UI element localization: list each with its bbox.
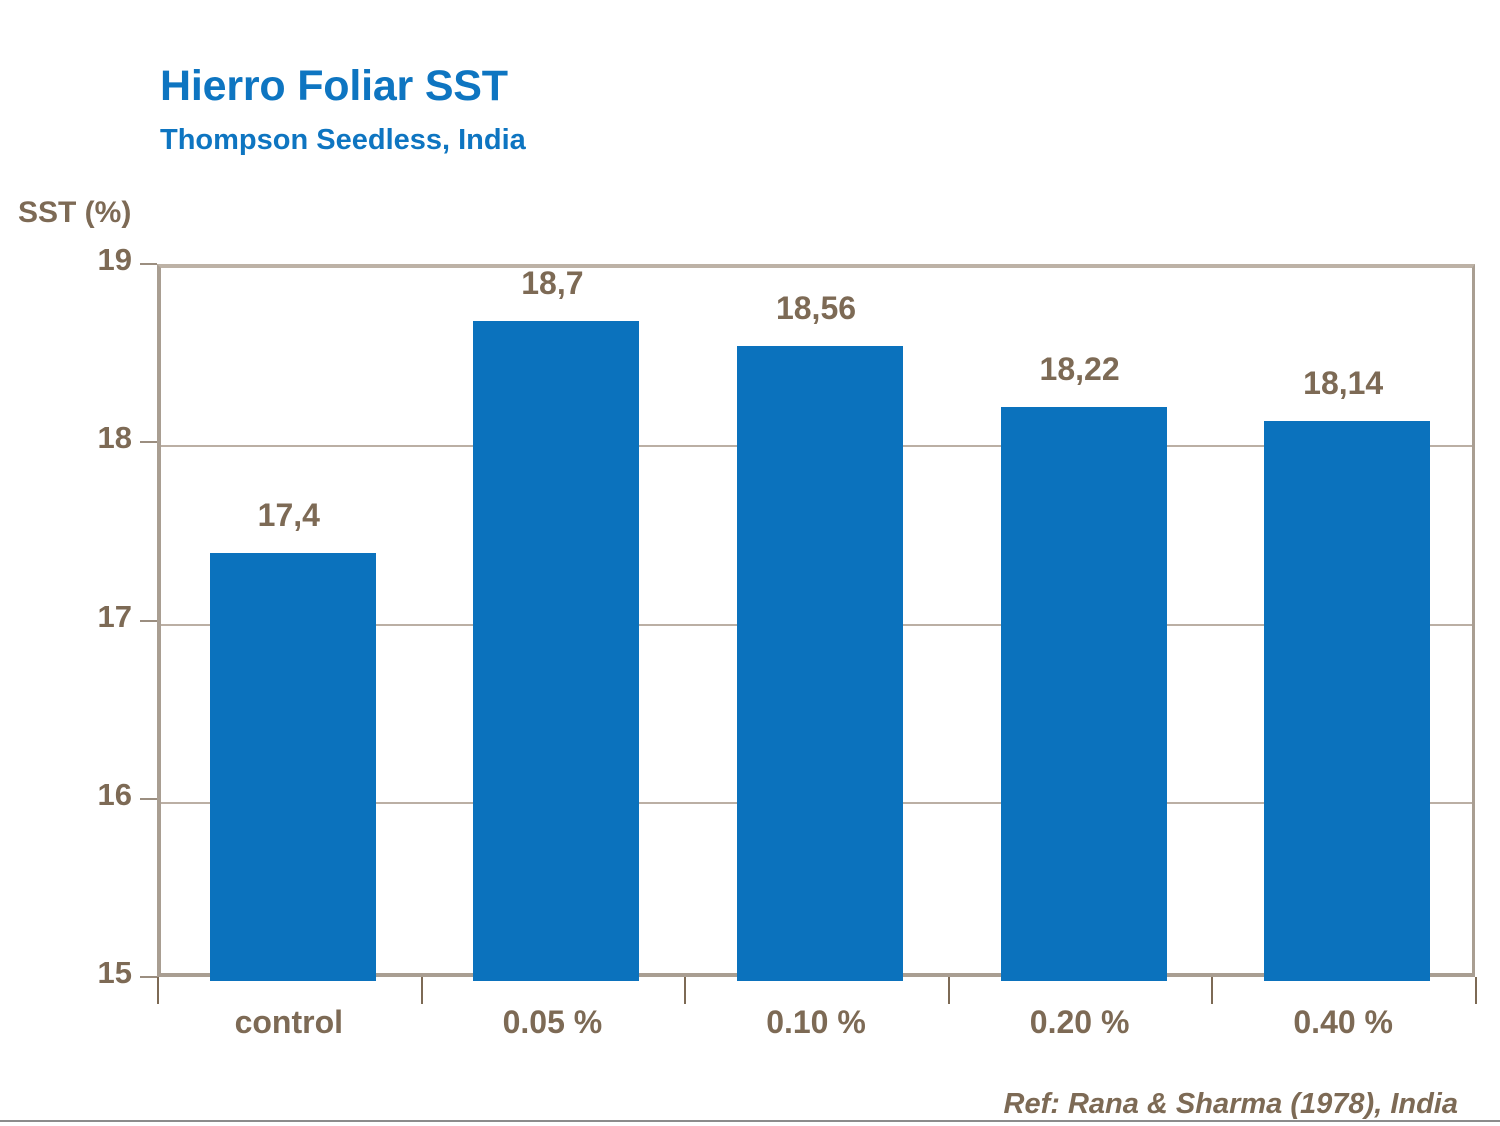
bar-value-label: 18,56 <box>696 290 936 327</box>
x-tick-mark <box>684 977 686 1004</box>
y-tick-mark-15 <box>140 976 157 978</box>
bar-value-label: 18,14 <box>1223 365 1463 402</box>
x-tick-label: 0.10 % <box>676 1004 956 1041</box>
x-tick-label: 0.20 % <box>940 1004 1220 1041</box>
x-tick-mark <box>421 977 423 1004</box>
x-tick-label: control <box>149 1004 429 1041</box>
chart-subtitle: Thompson Seedless, India <box>160 124 526 157</box>
y-tick-label-15: 15 <box>42 955 132 991</box>
x-tick-mark <box>1211 977 1213 1004</box>
y-axis-title: SST (%) <box>18 196 131 230</box>
bar-value-label: 18,22 <box>960 351 1200 388</box>
bottom-divider <box>0 1120 1500 1122</box>
y-tick-mark-18 <box>140 441 157 443</box>
chart-title: Hierro Foliar SST <box>160 62 508 111</box>
y-tick-mark-17 <box>140 620 157 622</box>
chart-page: Hierro Foliar SST Thompson Seedless, Ind… <box>0 0 1500 1126</box>
x-tick-mark <box>157 977 159 1004</box>
y-tick-label-16: 16 <box>42 777 132 813</box>
reference-note: Ref: Rana & Sharma (1978), India <box>1004 1088 1458 1121</box>
y-tick-mark-19 <box>140 263 157 265</box>
bar-value-label: 18,7 <box>432 265 672 302</box>
bar[interactable] <box>1001 407 1167 981</box>
bar[interactable] <box>1264 421 1430 981</box>
y-tick-label-17: 17 <box>42 599 132 635</box>
x-tick-label: 0.40 % <box>1203 1004 1483 1041</box>
x-tick-mark <box>948 977 950 1004</box>
y-tick-mark-16 <box>140 798 157 800</box>
y-tick-label-19: 19 <box>42 242 132 278</box>
y-tick-label-18: 18 <box>42 420 132 456</box>
bar-value-label: 17,4 <box>169 497 409 534</box>
x-tick-label: 0.05 % <box>412 1004 692 1041</box>
bar[interactable] <box>210 553 376 981</box>
x-tick-mark <box>1475 977 1477 1004</box>
bar[interactable] <box>737 346 903 981</box>
bar[interactable] <box>473 321 639 981</box>
